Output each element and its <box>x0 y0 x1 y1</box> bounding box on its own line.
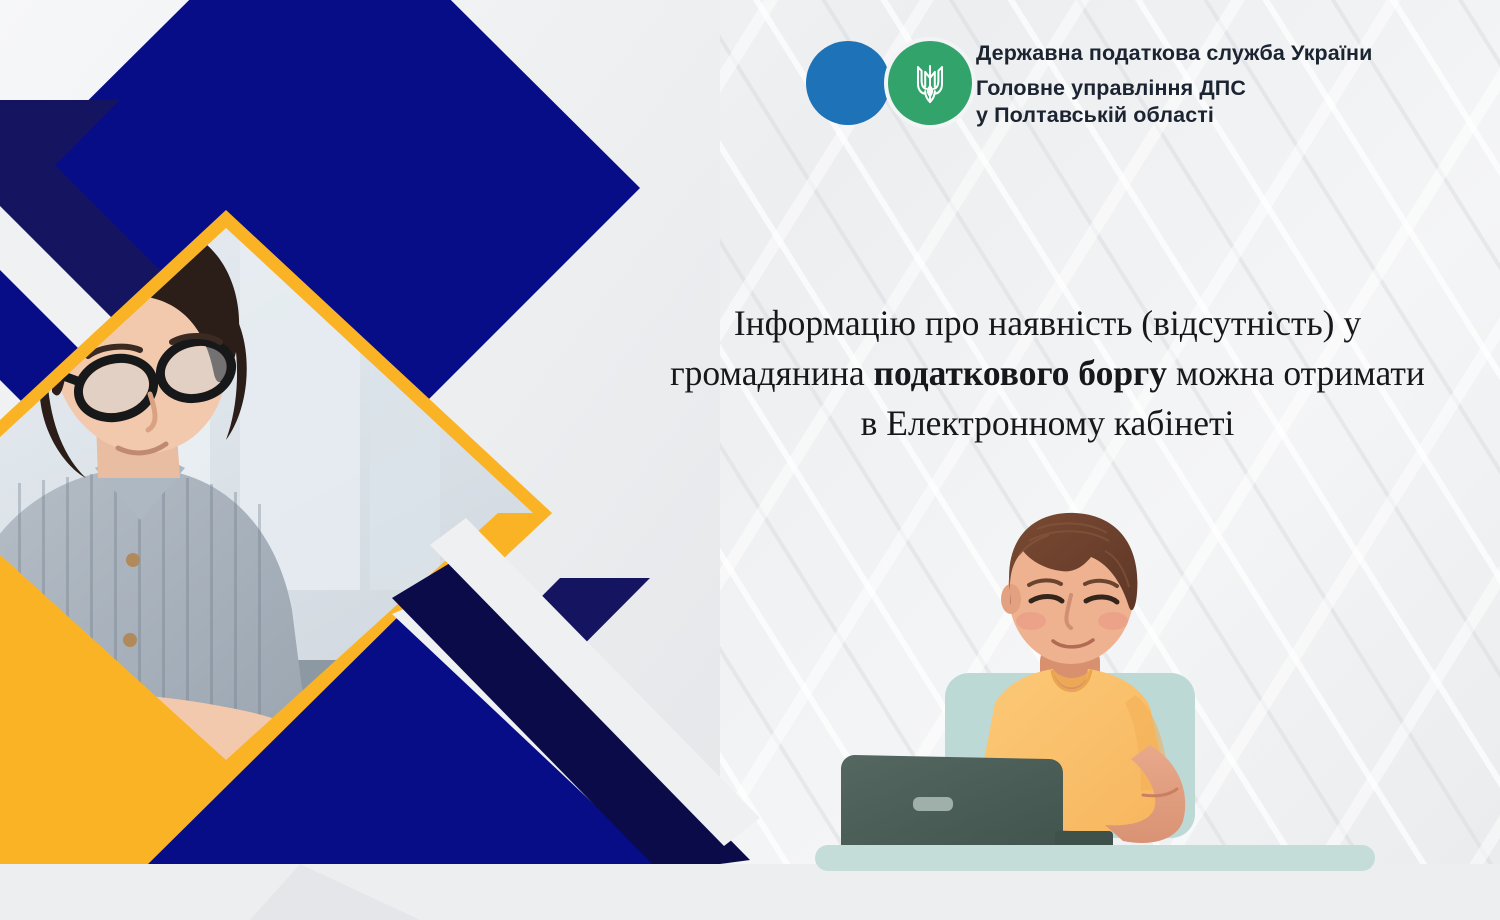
dps-logo: Державна податкова служба України Головн… <box>806 37 1372 129</box>
logo-line-1: Державна податкова служба України <box>976 38 1372 68</box>
banner-canvas: Державна податкова служба України Головн… <box>0 0 1500 920</box>
logo-line-3: у Полтавській області <box>976 102 1372 129</box>
logo-line-2: Головне управління ДПС <box>976 75 1372 102</box>
logo-text-block: Державна податкова служба України Головн… <box>976 38 1372 129</box>
cheek-left <box>1016 612 1046 630</box>
left-artwork <box>0 0 720 920</box>
ukrainian-trident-icon <box>906 60 954 108</box>
head <box>1001 513 1137 664</box>
logo-circle-blue <box>806 41 890 125</box>
cheek-right <box>1098 612 1128 630</box>
laptop-logo <box>913 797 953 811</box>
man-at-laptop-illustration <box>805 495 1385 895</box>
logo-marks <box>806 37 976 129</box>
desk <box>815 845 1375 871</box>
headline-emphasis: податкового боргу <box>874 353 1167 393</box>
headline: Інформацію про наявність (відсутність) у… <box>660 298 1435 448</box>
